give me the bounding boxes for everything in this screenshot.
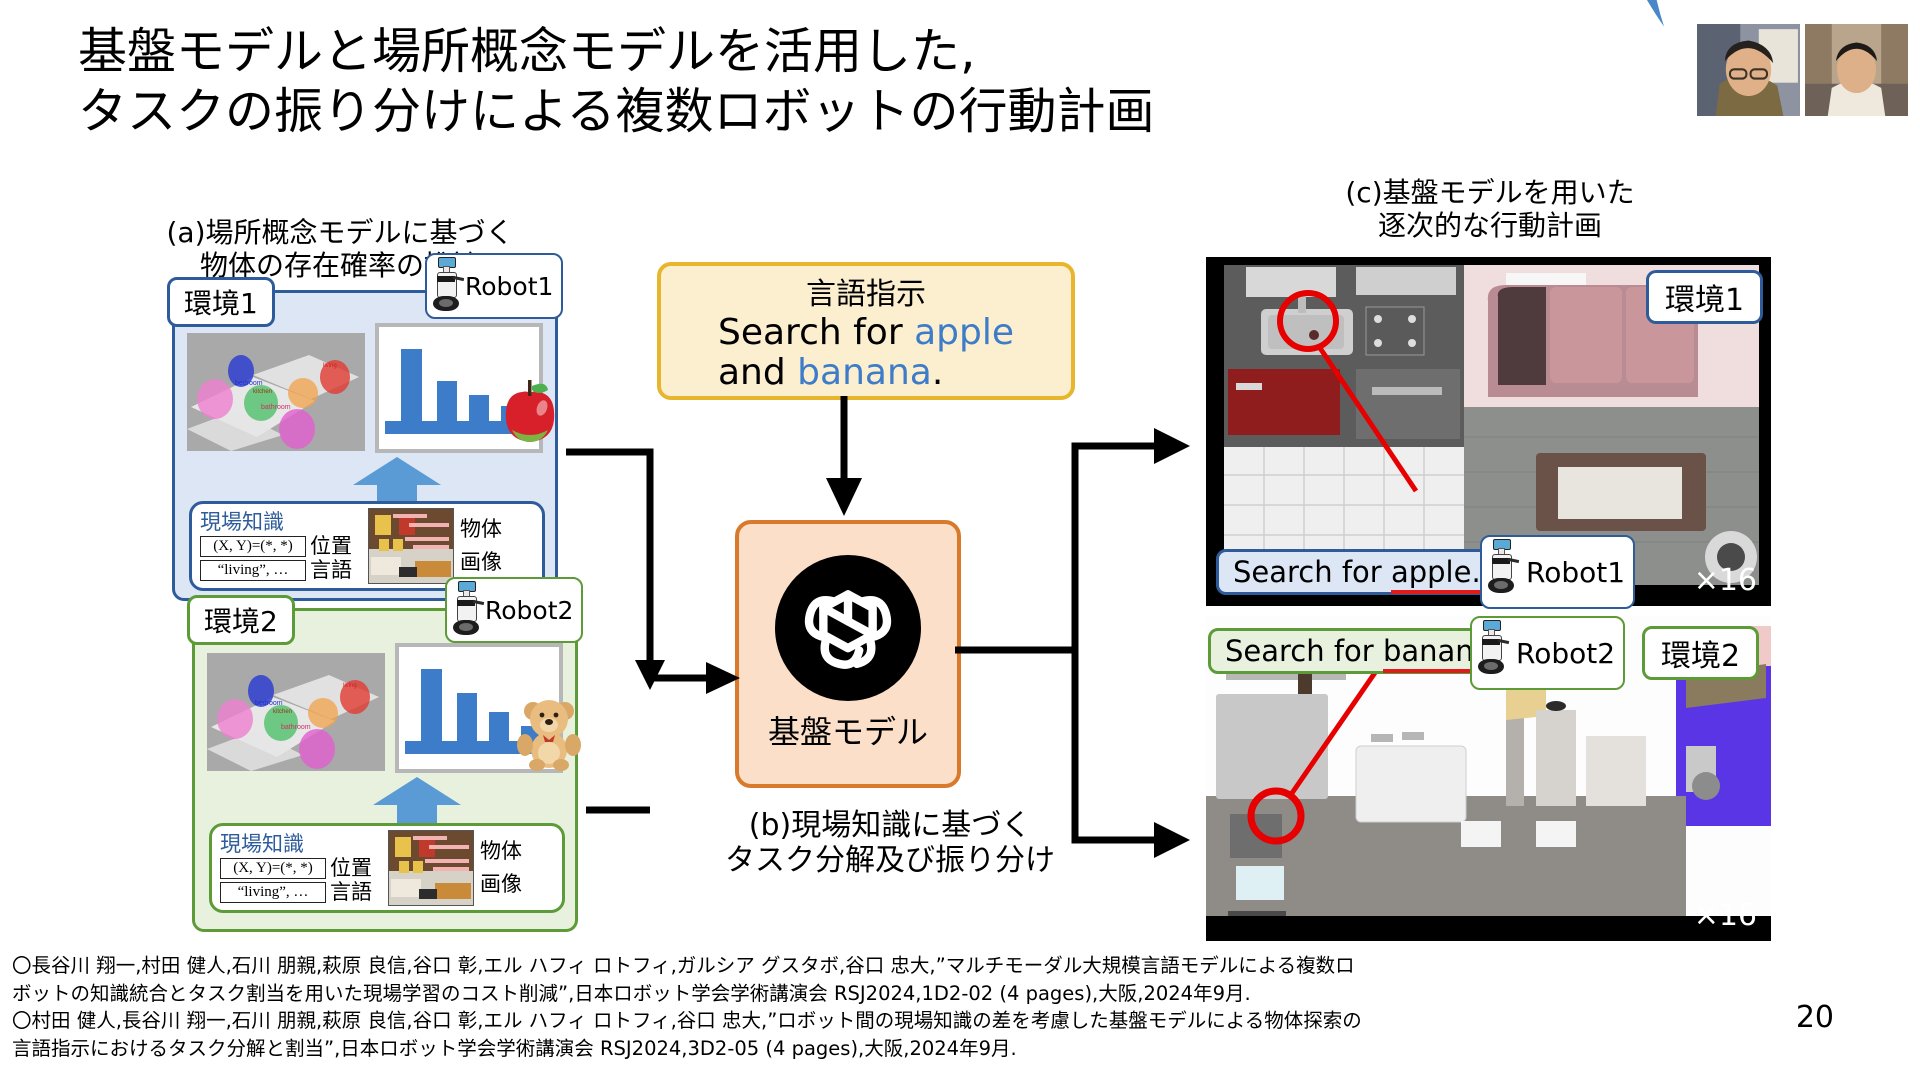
title-line-1: 基盤モデルと場所概念モデルを活用した, bbox=[78, 22, 1155, 82]
bar-1 bbox=[421, 669, 442, 747]
bar-2 bbox=[457, 693, 478, 747]
svg-text:living: living bbox=[343, 683, 357, 689]
svg-text:bathroom: bathroom bbox=[281, 724, 311, 731]
video-1-robot-label: Robot1 bbox=[1526, 556, 1625, 589]
reference-2-line-1: 〇村田 健人,長谷川 翔一,石川 朋親,萩原 良信,谷口 彰,エル ハフィ ロト… bbox=[12, 1007, 1762, 1035]
knowledge-title: 現場知識 bbox=[200, 512, 368, 533]
apple-icon bbox=[498, 378, 562, 444]
playback-speed-2: ×16 bbox=[1694, 898, 1757, 933]
video-1-environment-tag: 環境1 bbox=[1646, 270, 1763, 324]
video-2-robot-label: Robot2 bbox=[1516, 637, 1615, 670]
knowledge-title: 現場知識 bbox=[220, 834, 388, 855]
svg-text:bedroom: bedroom bbox=[255, 700, 283, 707]
bar-1 bbox=[401, 349, 422, 427]
image-label: 画像 bbox=[480, 874, 522, 895]
foundation-model-box: 基盤モデル bbox=[735, 520, 961, 788]
references-block: 〇長谷川 翔一,村田 健人,石川 朋親,萩原 良信,谷口 彰,エル ハフィ ロト… bbox=[12, 952, 1762, 1063]
environment-2-place-distribution-image: Distribution of P (word | place) bedroom… bbox=[207, 653, 385, 771]
environment-1-up-arrow-icon bbox=[351, 455, 443, 503]
environment-1-robot-chip: Robot1 bbox=[425, 253, 563, 319]
instruction-prefix: Search for bbox=[718, 312, 914, 353]
video-1-callout-keyword: apple. bbox=[1391, 555, 1481, 594]
svg-text:living: living bbox=[323, 363, 337, 369]
svg-text:bedroom: bedroom bbox=[235, 380, 263, 387]
page-number: 20 bbox=[1796, 1000, 1834, 1035]
section-c-caption-line-2: 逐次的な行動計画 bbox=[1255, 209, 1725, 242]
environment-1-object-image bbox=[368, 508, 454, 584]
svg-text:kitchen: kitchen bbox=[253, 389, 272, 395]
reference-1-line-1: 〇長谷川 翔一,村田 健人,石川 朋親,萩原 良信,谷口 彰,エル ハフィ ロト… bbox=[12, 952, 1762, 980]
playback-speed-1: ×16 bbox=[1694, 563, 1757, 598]
instruction-suffix: . bbox=[932, 352, 943, 393]
hsr-robot-icon bbox=[449, 581, 483, 639]
hsr-robot-icon bbox=[1474, 620, 1514, 686]
reference-1-line-2: ボットの知識統合とタスク割当を用いた現場学習のコスト削減”,日本ロボット学会学術… bbox=[12, 980, 1762, 1008]
section-a-caption-line-1: (a)場所概念モデルに基づく bbox=[140, 216, 540, 249]
foundation-model-label: 基盤モデル bbox=[768, 707, 928, 753]
video-1-robot-chip: Robot1 bbox=[1480, 535, 1635, 609]
page-title: 基盤モデルと場所概念モデルを活用した, タスクの振り分けによる複数ロボットの行動… bbox=[78, 22, 1155, 142]
webcam-thumbnail-presenter-2 bbox=[1803, 22, 1910, 118]
image-label: 画像 bbox=[460, 552, 502, 573]
environment-2-up-arrow-icon bbox=[371, 775, 463, 823]
environment-1-tag: 環境1 bbox=[167, 277, 275, 327]
environment-2-robot-chip: Robot2 bbox=[445, 577, 583, 643]
position-value: (X, Y)=(*, *) bbox=[220, 858, 326, 879]
teddy-bear-icon bbox=[513, 695, 585, 771]
apple-location-annotation bbox=[1266, 283, 1466, 543]
environment-2-object-image bbox=[388, 830, 474, 906]
hsr-robot-icon bbox=[1484, 539, 1524, 605]
section-c-caption-line-1: (c)基盤モデルを用いた bbox=[1255, 176, 1725, 209]
reference-2-line-2: 言語指示におけるタスク分解と割当”,日本ロボット学会学術講演会 RSJ2024,… bbox=[12, 1035, 1762, 1063]
instruction-text: Search for apple and banana. bbox=[718, 313, 1014, 394]
svg-text:bathroom: bathroom bbox=[261, 404, 291, 411]
environment-1-robot-label: Robot1 bbox=[465, 272, 553, 301]
video-2-environment-tag: 環境2 bbox=[1642, 626, 1759, 680]
environment-2-panel: 環境2 Distribution of P (word | place) bed… bbox=[192, 608, 578, 932]
video-1-callout: Search for apple. bbox=[1216, 549, 1498, 595]
environment-2-robot-label: Robot2 bbox=[485, 596, 573, 625]
hsr-robot-icon bbox=[429, 257, 463, 315]
language-label: 言語 bbox=[310, 560, 352, 581]
video-2-robot-chip: Robot2 bbox=[1470, 616, 1625, 690]
svg-text:kitchen: kitchen bbox=[273, 709, 292, 715]
position-label: 位置 bbox=[310, 536, 352, 557]
section-b-caption: (b)現場知識に基づく タスク分解及び振り分け bbox=[690, 808, 1090, 879]
environment-1-place-distribution-image: Distribution of P (word | place) bedroom… bbox=[187, 333, 365, 451]
instruction-keyword-apple: apple bbox=[914, 312, 1014, 353]
language-value: “living”, … bbox=[220, 882, 326, 903]
language-label: 言語 bbox=[330, 882, 372, 903]
object-label: 物体 bbox=[460, 519, 502, 540]
environment-1-panel: 環境1 Distribution of P (word | place) bed… bbox=[172, 290, 558, 601]
openai-logo-icon bbox=[775, 555, 921, 701]
instruction-heading: 言語指示 bbox=[806, 269, 926, 313]
webcam-thumbnail-presenter-1 bbox=[1695, 22, 1802, 118]
position-value: (X, Y)=(*, *) bbox=[200, 536, 306, 557]
position-label: 位置 bbox=[330, 858, 372, 879]
section-c-caption: (c)基盤モデルを用いた 逐次的な行動計画 bbox=[1255, 176, 1725, 242]
environment-2-tag: 環境2 bbox=[187, 595, 295, 645]
language-value: “living”, … bbox=[200, 560, 306, 581]
section-b-caption-line-2: タスク分解及び振り分け bbox=[690, 843, 1090, 878]
environment-2-knowledge-card: 現場知識 (X, Y)=(*, *) 位置 “living”, … 言語 bbox=[209, 823, 565, 913]
section-b-caption-line-1: (b)現場知識に基づく bbox=[690, 808, 1090, 843]
language-instruction-box: 言語指示 Search for apple and banana. bbox=[657, 262, 1075, 400]
object-label: 物体 bbox=[480, 841, 522, 862]
title-line-2: タスクの振り分けによる複数ロボットの行動計画 bbox=[78, 82, 1155, 142]
instruction-keyword-banana: banana bbox=[797, 352, 932, 393]
instruction-mid: and bbox=[718, 352, 797, 393]
